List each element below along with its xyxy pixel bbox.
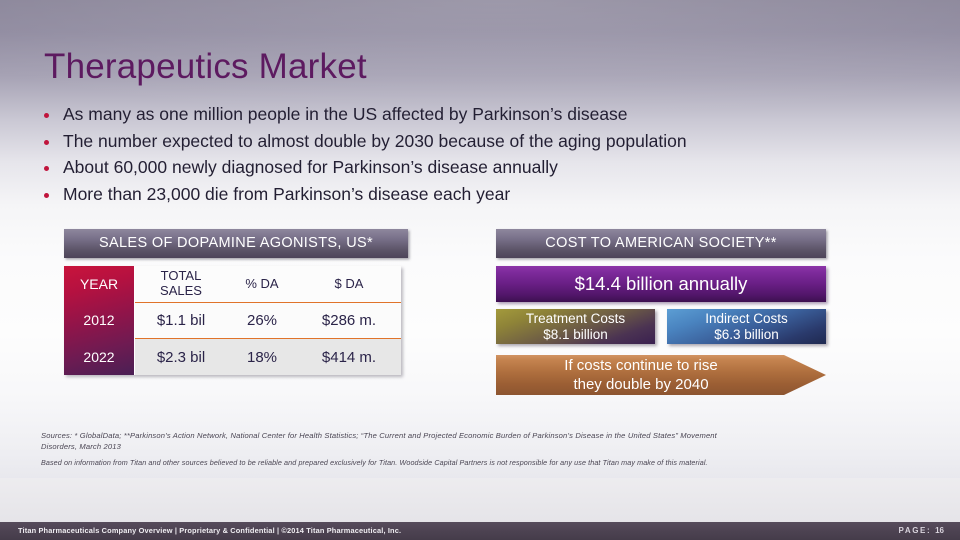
- forecast-arrow-wrapper: If costs continue to rise they double by…: [496, 353, 826, 397]
- column-header-total-sales-line2: SALES: [160, 283, 202, 298]
- cell-dollar-da: $414 m.: [297, 349, 401, 366]
- column-header-pct-da: % DA: [227, 277, 297, 292]
- sales-table-data-columns: TOTAL SALES % DA $ DA $1.1 bil 26% $286 …: [135, 266, 401, 375]
- sources-line-2: Disorders, March 2013: [41, 441, 921, 452]
- bullet-text: As many as one million people in the US …: [63, 103, 628, 125]
- forecast-arrow-line2: they double by 2040: [496, 375, 786, 394]
- sources-note: Sources: * GlobalData; **Parkinson’s Act…: [41, 430, 921, 468]
- treatment-costs-value: $8.1 billion: [496, 327, 655, 343]
- bullet-text: The number expected to almost double by …: [63, 130, 687, 152]
- column-header-dollar-da: $ DA: [297, 277, 401, 292]
- page-indicator: PAGE: 16: [899, 526, 944, 535]
- cost-panel: COST TO AMERICAN SOCIETY** $14.4 billion…: [496, 229, 826, 258]
- slide-canvas: Therapeutics Market As many as one milli…: [0, 0, 960, 540]
- cell-pct-da: 26%: [227, 312, 297, 329]
- sales-panel: SALES OF DOPAMINE AGONISTS, US* YEAR 201…: [64, 229, 408, 258]
- column-header-total-sales-line1: TOTAL: [161, 268, 202, 283]
- indirect-costs-value: $6.3 billion: [667, 327, 826, 343]
- sales-table: YEAR 2012 2022 TOTAL SALES % DA $ DA $1.…: [64, 266, 401, 375]
- column-header-year: YEAR: [64, 266, 134, 302]
- table-row-year: 2012: [64, 302, 134, 338]
- footer-confidential-text: Titan Pharmaceuticals Company Overview |…: [18, 526, 401, 535]
- sales-table-year-column: YEAR 2012 2022: [64, 266, 135, 375]
- table-header-row: TOTAL SALES % DA $ DA: [135, 266, 401, 303]
- bullet-dot-icon: [44, 166, 49, 171]
- bullet-dot-icon: [44, 113, 49, 118]
- cell-total-sales: $2.3 bil: [135, 349, 227, 366]
- forecast-arrow-shape: If costs continue to rise they double by…: [496, 353, 826, 397]
- cell-total-sales: $1.1 bil: [135, 312, 227, 329]
- cell-pct-da: 18%: [227, 349, 297, 366]
- disclaimer-text: Based on information from Titan and othe…: [41, 458, 921, 468]
- column-header-total-sales: TOTAL SALES: [135, 269, 227, 298]
- sources-line-1: Sources: * GlobalData; **Parkinson’s Act…: [41, 430, 921, 441]
- sales-panel-banner: SALES OF DOPAMINE AGONISTS, US*: [64, 229, 408, 258]
- table-row-year: 2022: [64, 339, 134, 375]
- page-title: Therapeutics Market: [44, 47, 367, 87]
- indirect-costs-label: Indirect Costs: [667, 311, 826, 327]
- list-item: More than 23,000 die from Parkinson’s di…: [44, 183, 924, 205]
- list-item: About 60,000 newly diagnosed for Parkins…: [44, 156, 924, 178]
- treatment-costs-box: Treatment Costs $8.1 billion: [496, 309, 655, 344]
- indirect-costs-box: Indirect Costs $6.3 billion: [667, 309, 826, 344]
- bullet-list: As many as one million people in the US …: [44, 103, 924, 209]
- bullet-text: More than 23,000 die from Parkinson’s di…: [63, 183, 510, 205]
- table-row: $2.3 bil 18% $414 m.: [135, 339, 401, 375]
- bullet-text: About 60,000 newly diagnosed for Parkins…: [63, 156, 558, 178]
- bullet-dot-icon: [44, 193, 49, 198]
- list-item: As many as one million people in the US …: [44, 103, 924, 125]
- forecast-arrow-line1: If costs continue to rise: [496, 356, 786, 375]
- list-item: The number expected to almost double by …: [44, 130, 924, 152]
- cost-headline-box: $14.4 billion annually: [496, 266, 826, 302]
- page-label-text: PAGE:: [899, 526, 932, 535]
- cell-dollar-da: $286 m.: [297, 312, 401, 329]
- table-row: $1.1 bil 26% $286 m.: [135, 303, 401, 340]
- treatment-costs-label: Treatment Costs: [496, 311, 655, 327]
- bullet-dot-icon: [44, 140, 49, 145]
- page-number: 16: [935, 526, 944, 535]
- cost-panel-banner: COST TO AMERICAN SOCIETY**: [496, 229, 826, 258]
